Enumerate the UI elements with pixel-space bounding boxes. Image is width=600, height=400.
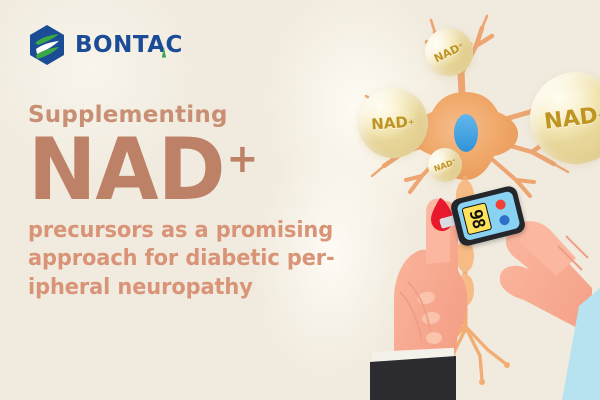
brand-logo[interactable]: BONTAC bbox=[28, 24, 183, 66]
bubble-superscript: + bbox=[452, 161, 455, 162]
subheadline-line-1: precursors as a promising bbox=[28, 216, 335, 244]
bubble-superscript: + bbox=[459, 45, 464, 47]
right-hand bbox=[500, 221, 600, 400]
left-hand bbox=[370, 199, 467, 400]
subheadline-text: precursors as a promising approach for d… bbox=[28, 216, 335, 301]
title-superscript: + bbox=[226, 139, 257, 179]
meter-button-blue[interactable] bbox=[498, 214, 510, 226]
brand-wordmark: BONTAC bbox=[75, 34, 183, 57]
bubble-label: NAD bbox=[433, 158, 454, 173]
bubble-label: NAD bbox=[371, 113, 409, 134]
title-word: NAD bbox=[28, 131, 225, 210]
headline-block: Supplementing NAD+ precursors as a promi… bbox=[28, 104, 358, 301]
poster-canvas: BONTAC Supplementing NAD+ precursors as … bbox=[0, 0, 600, 400]
neuron-nucleus bbox=[454, 114, 478, 152]
hexagon-leaf-logo-icon bbox=[28, 24, 66, 66]
subheadline-line-3: ipheral neuropathy bbox=[28, 273, 335, 301]
meter-button-red[interactable] bbox=[495, 199, 507, 211]
bubble-label: NAD bbox=[543, 103, 599, 134]
page-title: NAD+ bbox=[28, 131, 342, 210]
meter-reading: 98 bbox=[465, 207, 489, 230]
subheadline-line-2: approach for diabetic per- bbox=[28, 244, 335, 272]
meter-display: 98 bbox=[461, 202, 492, 235]
illustration: NAD+ NAD+ NAD+ NAD+ 98 bbox=[330, 0, 600, 400]
